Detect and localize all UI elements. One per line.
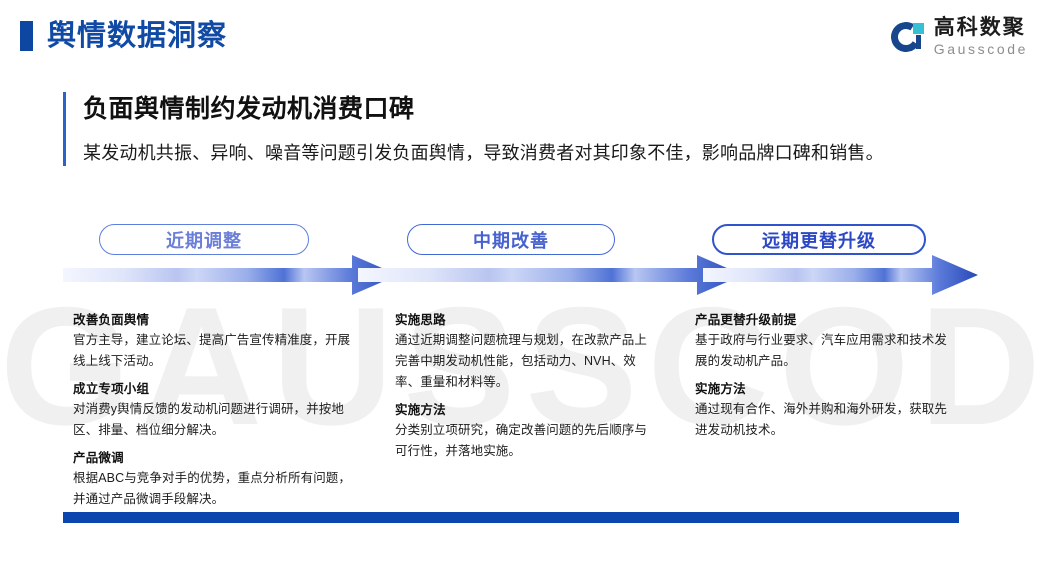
stage-pill-long-term[interactable]: 远期更替升级 bbox=[712, 224, 926, 255]
stage-pill-label: 中期改善 bbox=[473, 227, 549, 253]
stage-pill-mid-term[interactable]: 中期改善 bbox=[407, 224, 615, 255]
content-block: 产品微调 根据ABC与竞争对手的优势，重点分析所有问题，并通过产品微调手段解决。 bbox=[73, 448, 356, 510]
block-body: 根据ABC与竞争对手的优势，重点分析所有问题，并通过产品微调手段解决。 bbox=[73, 468, 356, 510]
block-title: 改善负面舆情 bbox=[73, 310, 356, 330]
block-body: 官方主导，建立论坛、提高广告宣传精准度，开展线上线下活动。 bbox=[73, 330, 356, 372]
block-body: 分类别立项研究，确定改善问题的先后顺序与可行性，并落地实施。 bbox=[395, 420, 657, 462]
stage-pill-near-term[interactable]: 近期调整 bbox=[99, 224, 309, 255]
logo-bar-shape bbox=[916, 35, 921, 49]
block-body: 通过近期调整问题梳理与规划，在改款产品上完善中期发动机性能，包括动力、NVH、效… bbox=[395, 330, 657, 393]
headline: 负面舆情制约发动机消费口碑 bbox=[83, 92, 993, 126]
brand-logo: 高科数聚 Gausscode bbox=[891, 14, 1028, 60]
arrow-segment-3 bbox=[703, 255, 978, 295]
subheadline: 某发动机共振、异响、噪音等问题引发负面舆情，导致消费者对其印象不佳，影响品牌口碑… bbox=[83, 140, 993, 166]
title-block: 负面舆情制约发动机消费口碑 某发动机共振、异响、噪音等问题引发负面舆情，导致消费… bbox=[63, 92, 993, 166]
column-near-term: 改善负面舆情 官方主导，建立论坛、提高广告宣传精准度，开展线上线下活动。 成立专… bbox=[73, 310, 356, 510]
footer-bar bbox=[63, 512, 959, 523]
content-block: 改善负面舆情 官方主导，建立论坛、提高广告宣传精准度，开展线上线下活动。 bbox=[73, 310, 356, 372]
header-marker-icon bbox=[20, 21, 33, 51]
logo-name-en: Gausscode bbox=[934, 41, 1028, 58]
content-block: 实施方法 通过现有合作、海外并购和海外研发，获取先进发动机技术。 bbox=[695, 379, 953, 441]
block-body: 基于政府与行业要求、汽车应用需求和技术发展的发动机产品。 bbox=[695, 330, 953, 372]
slide-header: 舆情数据洞察 高科数聚 Gausscode bbox=[0, 0, 1050, 72]
block-title: 产品微调 bbox=[73, 448, 356, 468]
block-body: 对消费y舆情反馈的发动机问题进行调研，并按地区、排量、档位细分解决。 bbox=[73, 399, 356, 441]
logo-square-shape bbox=[913, 23, 924, 34]
block-title: 成立专项小组 bbox=[73, 379, 356, 399]
stage-pill-label: 近期调整 bbox=[166, 227, 242, 253]
content-block: 实施方法 分类别立项研究，确定改善问题的先后顺序与可行性，并落地实施。 bbox=[395, 400, 657, 462]
timeline-arrow bbox=[60, 252, 985, 298]
block-body: 通过现有合作、海外并购和海外研发，获取先进发动机技术。 bbox=[695, 399, 953, 441]
column-long-term: 产品更替升级前提 基于政府与行业要求、汽车应用需求和技术发展的发动机产品。 实施… bbox=[695, 310, 953, 441]
column-mid-term: 实施思路 通过近期调整问题梳理与规划，在改款产品上完善中期发动机性能，包括动力、… bbox=[395, 310, 657, 462]
stage-pill-label: 远期更替升级 bbox=[762, 227, 876, 253]
block-title: 产品更替升级前提 bbox=[695, 310, 953, 330]
block-title: 实施思路 bbox=[395, 310, 657, 330]
block-title: 实施方法 bbox=[395, 400, 657, 420]
content-block: 成立专项小组 对消费y舆情反馈的发动机问题进行调研，并按地区、排量、档位细分解决… bbox=[73, 379, 356, 441]
logo-mark-icon bbox=[891, 20, 925, 54]
logo-name-cn: 高科数聚 bbox=[934, 16, 1028, 40]
content-block: 实施思路 通过近期调整问题梳理与规划，在改款产品上完善中期发动机性能，包括动力、… bbox=[395, 310, 657, 393]
logo-text: 高科数聚 Gausscode bbox=[934, 16, 1028, 58]
content-block: 产品更替升级前提 基于政府与行业要求、汽车应用需求和技术发展的发动机产品。 bbox=[695, 310, 953, 372]
arrow-segment-1 bbox=[63, 255, 398, 295]
block-title: 实施方法 bbox=[695, 379, 953, 399]
slide-root: GAUSSCODE 舆情数据洞察 高科数聚 Gausscode 负面舆情制约发动… bbox=[0, 0, 1050, 588]
page-title: 舆情数据洞察 bbox=[47, 14, 227, 58]
arrow-segment-2 bbox=[358, 255, 743, 295]
